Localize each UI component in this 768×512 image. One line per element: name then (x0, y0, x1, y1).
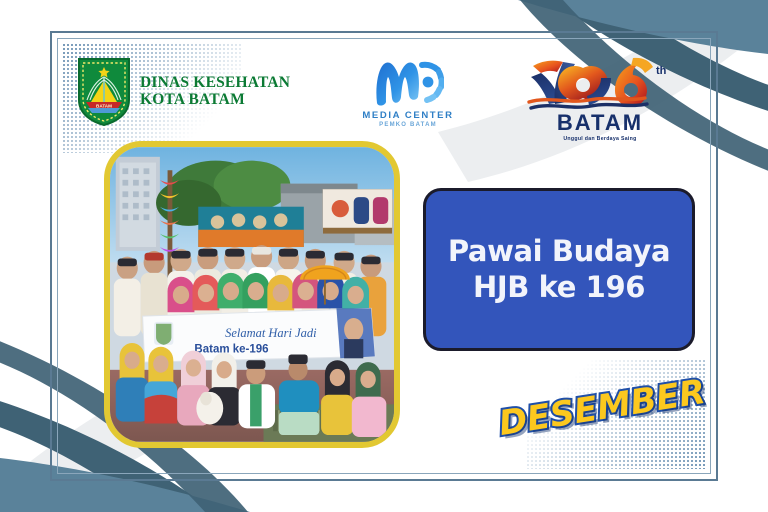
media-center-name: MEDIA CENTER (352, 110, 464, 121)
batam-crest-icon: BATAM (76, 56, 132, 128)
headline-line-2: HJB ke 196 (448, 270, 670, 305)
headline-box: Pawai Budaya HJB ke 196 (423, 188, 695, 351)
photo-banner: Selamat Hari Jadi Batam ke-196 (143, 308, 375, 362)
media-center-monogram-icon (372, 57, 444, 107)
logo-dinas-kesehatan: BATAM DINAS KESEHATAN KOTA BATAM (76, 56, 290, 128)
crest-caption: BATAM (96, 103, 112, 108)
logo-media-center: MEDIA CENTER PEMKO BATAM (352, 57, 464, 128)
headline-line-1: Pawai Budaya (448, 234, 670, 269)
banner-line-2: Batam ke-196 (194, 344, 268, 356)
header-logo-row: BATAM DINAS KESEHATAN KOTA BATAM (0, 0, 768, 145)
dinkes-title-line2: KOTA BATAM (140, 92, 290, 109)
event-photo-card: Selamat Hari Jadi Batam ke-196 (104, 141, 400, 448)
event-group-photo: Selamat Hari Jadi Batam ke-196 (110, 147, 394, 442)
dinkes-title-line1: DINAS KESEHATAN (140, 75, 290, 92)
hjb-196-number-icon: th (525, 52, 675, 114)
media-center-subtitle: PEMKO BATAM (352, 122, 464, 128)
hjb-ordinal-suffix: th (656, 65, 667, 77)
headline-text: Pawai Budaya HJB ke 196 (448, 234, 670, 305)
hjb-city-label: BATAM (520, 110, 680, 136)
hjb-tagline: Unggul dan Berdaya Saing (520, 136, 680, 142)
poster-canvas: BATAM DINAS KESEHATAN KOTA BATAM (0, 0, 768, 512)
logo-hjb-196: th BATAM Unggul dan Berdaya Saing (520, 52, 680, 142)
banner-line-1: Selamat Hari Jadi (225, 326, 317, 340)
